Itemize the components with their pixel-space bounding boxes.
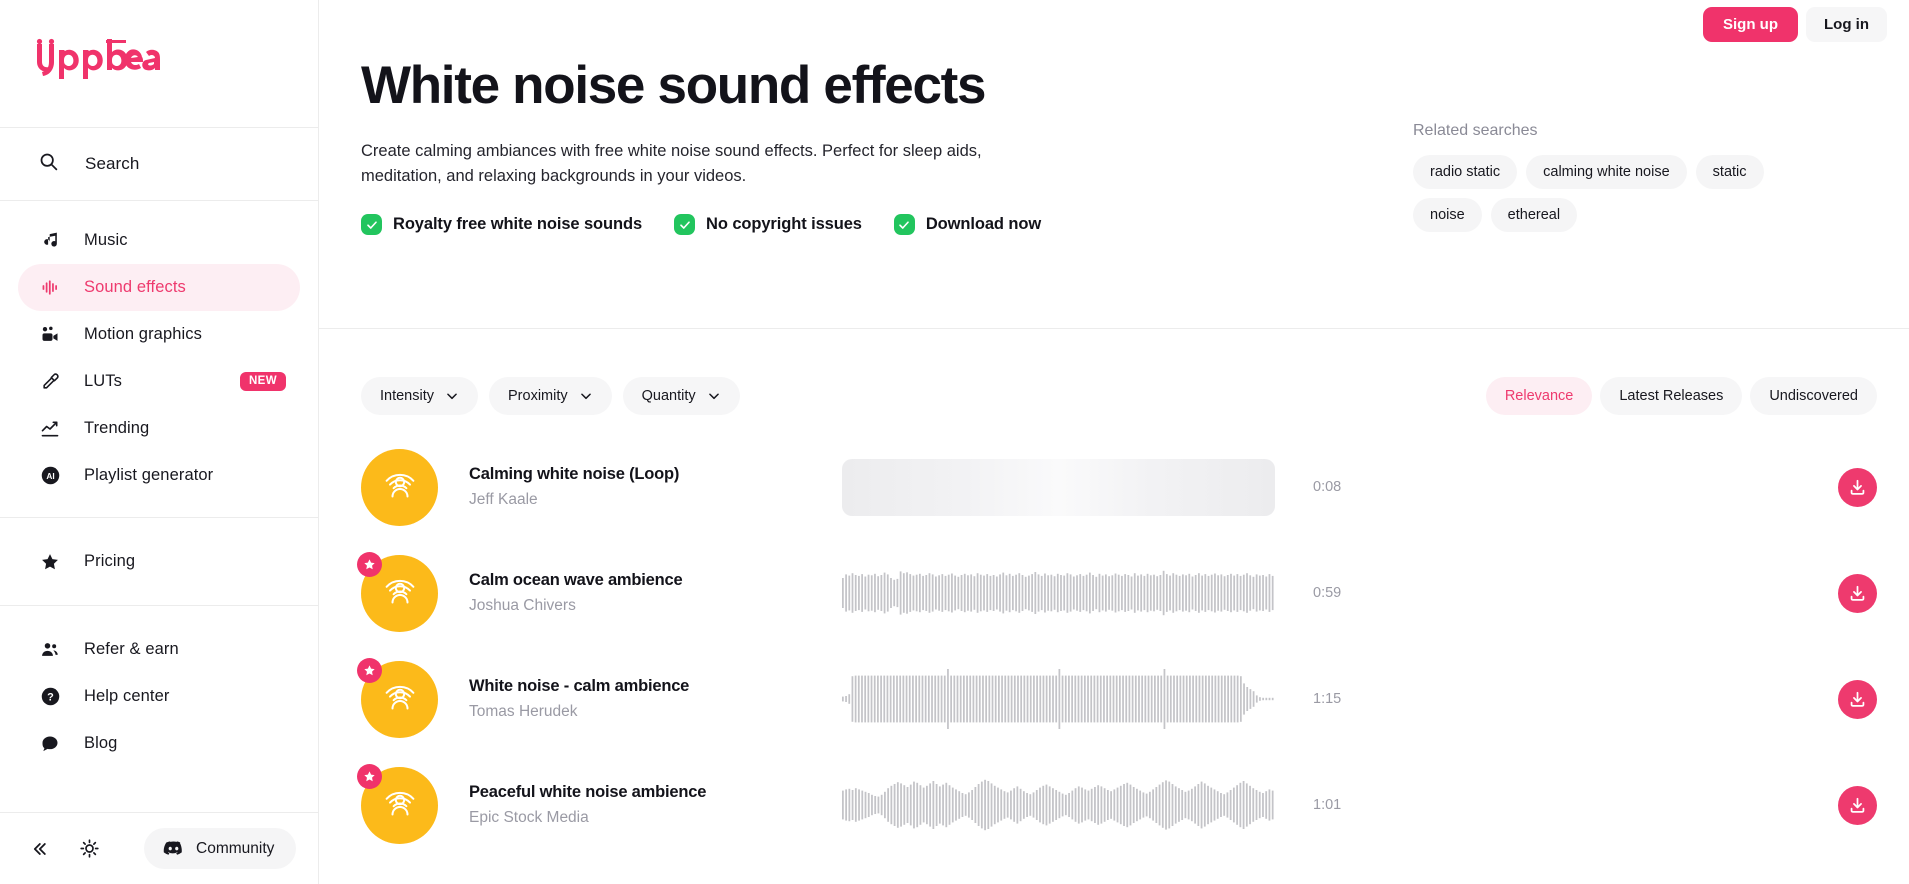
track-row[interactable]: Calm ocean wave ambienceJoshua Chivers0:… bbox=[319, 540, 1909, 646]
track-title[interactable]: Calm ocean wave ambience bbox=[469, 571, 819, 590]
waveform[interactable] bbox=[842, 669, 1275, 729]
sound-wave-person-icon bbox=[375, 780, 425, 830]
sort-relevance[interactable]: Relevance bbox=[1486, 377, 1593, 415]
track-meta: Calming white noise (Loop)Jeff Kaale bbox=[469, 465, 819, 509]
hero-section: White noise sound effects Create calming… bbox=[319, 0, 1909, 329]
sidebar-item-refer-and-earn[interactable]: Refer & earn bbox=[18, 626, 300, 673]
sound-wave-person-icon bbox=[375, 462, 425, 512]
chat-bubble-icon bbox=[39, 733, 61, 755]
app-root: Search Music Sound bbox=[0, 0, 1909, 884]
premium-star-badge bbox=[357, 764, 382, 789]
topbar: Sign up Log in bbox=[1703, 0, 1909, 48]
track-artwork[interactable] bbox=[361, 555, 438, 632]
filter-bar: Intensity Proximity Quantity Relevance L… bbox=[319, 329, 1909, 415]
related-chip[interactable]: noise bbox=[1413, 198, 1482, 232]
theme-toggle-button[interactable] bbox=[72, 832, 106, 866]
sidebar-item-label: Refer & earn bbox=[84, 640, 179, 659]
sidebar-item-luts[interactable]: LUTs NEW bbox=[18, 358, 300, 405]
download-icon bbox=[1848, 796, 1867, 815]
star-icon bbox=[39, 551, 61, 573]
sidebar-item-motion-graphics[interactable]: Motion graphics bbox=[18, 311, 300, 358]
related-chip[interactable]: static bbox=[1696, 155, 1764, 189]
sidebar-item-label: Music bbox=[84, 231, 128, 250]
waveform-container[interactable] bbox=[842, 456, 1275, 518]
video-camera-icon bbox=[39, 324, 61, 346]
track-artwork[interactable] bbox=[361, 767, 438, 844]
track-artist[interactable]: Epic Stock Media bbox=[469, 809, 819, 827]
uppbeat-logo[interactable] bbox=[34, 38, 162, 89]
search-icon bbox=[38, 151, 59, 177]
music-note-icon bbox=[39, 230, 61, 252]
track-meta: White noise - calm ambienceTomas Herudek bbox=[469, 677, 819, 721]
filter-quantity[interactable]: Quantity bbox=[623, 377, 740, 415]
download-icon bbox=[1848, 584, 1867, 603]
track-duration: 0:59 bbox=[1313, 585, 1365, 601]
download-button[interactable] bbox=[1838, 468, 1877, 507]
trend-up-icon bbox=[39, 418, 61, 440]
svg-text:?: ? bbox=[47, 691, 54, 703]
sidebar-item-pricing[interactable]: Pricing bbox=[18, 538, 300, 585]
track-title[interactable]: White noise - calm ambience bbox=[469, 677, 819, 696]
related-chip[interactable]: radio static bbox=[1413, 155, 1517, 189]
filter-label: Proximity bbox=[508, 388, 568, 404]
track-meta: Peaceful white noise ambienceEpic Stock … bbox=[469, 783, 819, 827]
sidebar-item-label: Blog bbox=[84, 734, 117, 753]
svg-text:AI: AI bbox=[46, 471, 54, 481]
sidebar-item-label: Sound effects bbox=[84, 278, 186, 297]
chevron-down-icon bbox=[445, 389, 459, 403]
filter-proximity[interactable]: Proximity bbox=[489, 377, 612, 415]
sound-wave-person-icon bbox=[375, 568, 425, 618]
download-icon bbox=[1848, 478, 1867, 497]
page-title: White noise sound effects bbox=[361, 58, 1391, 114]
sort-group: Relevance Latest Releases Undiscovered bbox=[1486, 377, 1877, 415]
sidebar-item-blog[interactable]: Blog bbox=[18, 720, 300, 767]
sort-undiscovered[interactable]: Undiscovered bbox=[1750, 377, 1877, 415]
feature-bullet: Royalty free white noise sounds bbox=[361, 214, 642, 235]
star-icon bbox=[363, 770, 376, 783]
uppbeat-logo-icon bbox=[34, 38, 162, 84]
related-searches: Related searches radio static calming wh… bbox=[1413, 58, 1833, 328]
eyedropper-icon bbox=[39, 371, 61, 393]
related-chip[interactable]: ethereal bbox=[1491, 198, 1577, 232]
track-artist[interactable]: Joshua Chivers bbox=[469, 597, 819, 615]
download-button[interactable] bbox=[1838, 680, 1877, 719]
feature-bullet: No copyright issues bbox=[674, 214, 862, 235]
track-duration: 1:15 bbox=[1313, 691, 1365, 707]
related-searches-title: Related searches bbox=[1413, 122, 1833, 140]
sidebar-item-label: LUTs bbox=[84, 372, 122, 391]
filter-intensity[interactable]: Intensity bbox=[361, 377, 478, 415]
sidebar-item-label: Trending bbox=[84, 419, 149, 438]
related-searches-chips: radio static calming white noise static … bbox=[1413, 155, 1833, 232]
chevron-down-icon bbox=[707, 389, 721, 403]
waveform-container[interactable] bbox=[842, 562, 1275, 624]
related-chip[interactable]: calming white noise bbox=[1526, 155, 1687, 189]
track-row[interactable]: Peaceful white noise ambienceEpic Stock … bbox=[319, 752, 1909, 858]
download-icon bbox=[1848, 690, 1867, 709]
page-description: Create calming ambiances with free white… bbox=[361, 139, 1041, 189]
sidebar-item-playlist-generator[interactable]: AI Playlist generator bbox=[18, 452, 300, 499]
new-badge: NEW bbox=[240, 372, 286, 392]
question-circle-icon: ? bbox=[39, 686, 61, 708]
sun-icon bbox=[79, 838, 100, 859]
sidebar: Search Music Sound bbox=[0, 0, 319, 884]
sidebar-item-label: Motion graphics bbox=[84, 325, 202, 344]
community-label: Community bbox=[196, 840, 274, 858]
sidebar-item-label: Pricing bbox=[84, 552, 135, 571]
sidebar-bottom-nav: Refer & earn ? Help center Blog bbox=[0, 606, 318, 787]
track-row[interactable]: White noise - calm ambienceTomas Herudek… bbox=[319, 646, 1909, 752]
filter-label: Intensity bbox=[380, 388, 434, 404]
sidebar-item-music[interactable]: Music bbox=[18, 217, 300, 264]
logo-area bbox=[0, 0, 318, 128]
sidebar-item-label: Help center bbox=[84, 687, 169, 706]
discord-icon bbox=[162, 837, 185, 860]
track-duration: 1:01 bbox=[1313, 797, 1365, 813]
feature-bullet-label: Royalty free white noise sounds bbox=[393, 215, 642, 234]
hero-left: White noise sound effects Create calming… bbox=[361, 58, 1391, 328]
filter-label: Quantity bbox=[642, 388, 696, 404]
play-artwork-button[interactable] bbox=[361, 449, 438, 526]
sidebar-primary-nav: Music Sound effects bbox=[0, 201, 318, 518]
log-in-button[interactable]: Log in bbox=[1806, 7, 1887, 42]
feature-bullets: Royalty free white noise sounds No copyr… bbox=[361, 214, 1391, 235]
sidebar-search-label: Search bbox=[85, 154, 139, 174]
main-content: Sign up Log in White noise sound effects… bbox=[319, 0, 1909, 884]
sidebar-mid-nav: Pricing bbox=[0, 518, 318, 606]
sidebar-item-trending[interactable]: Trending bbox=[18, 405, 300, 452]
sidebar-search[interactable]: Search bbox=[0, 128, 318, 201]
track-meta: Calm ocean wave ambienceJoshua Chivers bbox=[469, 571, 819, 615]
waveform-icon bbox=[39, 277, 61, 299]
check-icon bbox=[674, 214, 695, 235]
premium-star-badge bbox=[357, 552, 382, 577]
sidebar-item-label: Playlist generator bbox=[84, 466, 213, 485]
waveform-loading-placeholder bbox=[842, 459, 1275, 516]
download-button[interactable] bbox=[1838, 574, 1877, 613]
track-artist[interactable]: Jeff Kaale bbox=[469, 491, 819, 509]
track-list: Calming white noise (Loop)Jeff Kaale0:08… bbox=[319, 415, 1909, 858]
waveform-container[interactable] bbox=[842, 668, 1275, 730]
waveform[interactable] bbox=[842, 775, 1275, 835]
star-icon bbox=[363, 558, 376, 571]
waveform-container[interactable] bbox=[842, 774, 1275, 836]
check-icon bbox=[894, 214, 915, 235]
chevron-down-icon bbox=[579, 389, 593, 403]
waveform[interactable] bbox=[842, 563, 1275, 623]
people-icon bbox=[39, 639, 61, 661]
ai-circle-icon: AI bbox=[39, 465, 61, 487]
collapse-sidebar-button[interactable] bbox=[22, 832, 56, 866]
filter-group: Intensity Proximity Quantity bbox=[361, 377, 740, 415]
feature-bullet-label: Download now bbox=[926, 215, 1041, 234]
track-artist[interactable]: Tomas Herudek bbox=[469, 703, 819, 721]
sidebar-footer: Community bbox=[0, 812, 318, 884]
star-icon bbox=[363, 664, 376, 677]
track-title[interactable]: Peaceful white noise ambience bbox=[469, 783, 819, 802]
track-artwork[interactable] bbox=[361, 449, 438, 526]
sidebar-item-help-center[interactable]: ? Help center bbox=[18, 673, 300, 720]
check-icon bbox=[361, 214, 382, 235]
community-button[interactable]: Community bbox=[144, 828, 296, 869]
chevrons-left-icon bbox=[29, 839, 49, 859]
download-button[interactable] bbox=[1838, 786, 1877, 825]
track-duration: 0:08 bbox=[1313, 479, 1365, 495]
feature-bullet: Download now bbox=[894, 214, 1041, 235]
track-row[interactable]: Calming white noise (Loop)Jeff Kaale0:08 bbox=[319, 434, 1909, 540]
sound-wave-person-icon bbox=[375, 674, 425, 724]
track-artwork[interactable] bbox=[361, 661, 438, 738]
feature-bullet-label: No copyright issues bbox=[706, 215, 862, 234]
premium-star-badge bbox=[357, 658, 382, 683]
sort-latest-releases[interactable]: Latest Releases bbox=[1600, 377, 1742, 415]
sidebar-item-sound-effects[interactable]: Sound effects bbox=[18, 264, 300, 311]
track-title[interactable]: Calming white noise (Loop) bbox=[469, 465, 819, 484]
sign-up-button[interactable]: Sign up bbox=[1703, 7, 1798, 42]
